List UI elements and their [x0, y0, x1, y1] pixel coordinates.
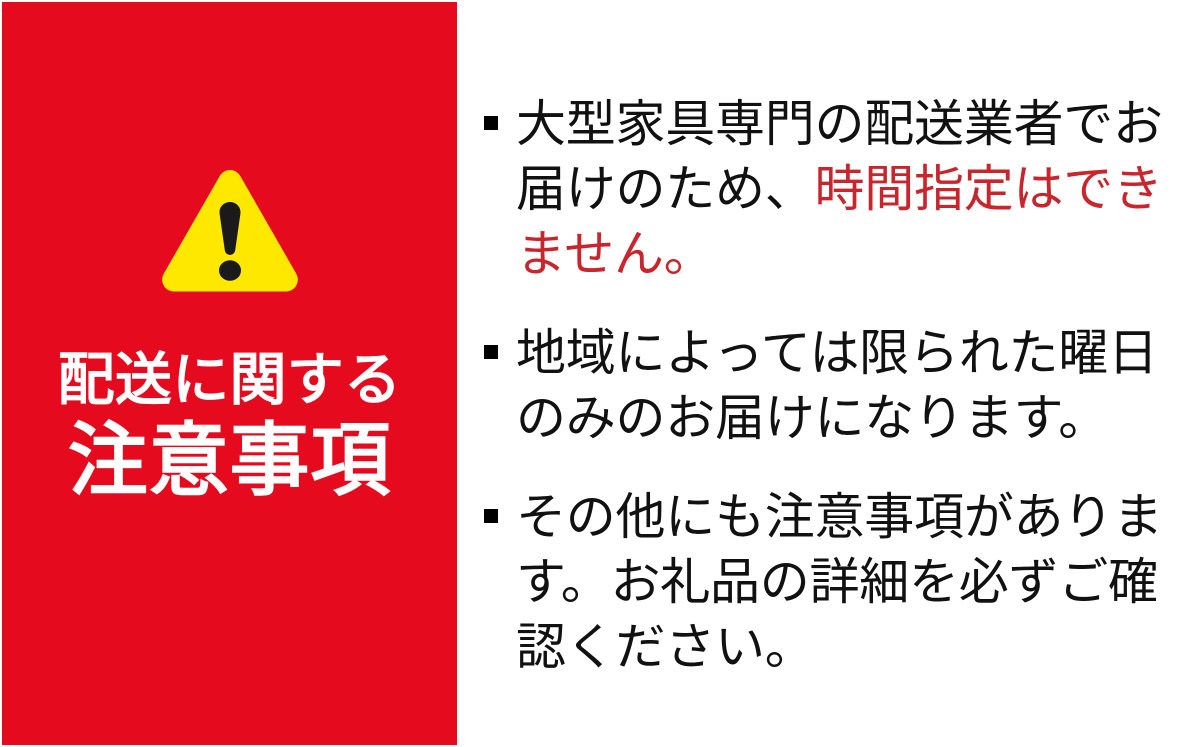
square-bullet-icon — [484, 509, 498, 523]
panel-title-line-1: 配送に関する — [2, 352, 457, 409]
square-bullet-icon — [484, 116, 498, 130]
left-red-panel: 配送に関する 注意事項 — [2, 2, 457, 745]
warning-triangle-exclamation-icon — [160, 166, 300, 296]
list-item: その他にも注意事項があります。お礼品の詳細を必ずご確認ください。 — [484, 485, 1175, 680]
delivery-notice-banner: 配送に関する 注意事項 大型家具専門の配送業者でお届けのため、時間指定はできませ… — [0, 0, 1201, 747]
panel-title: 配送に関する 注意事項 — [2, 352, 457, 501]
panel-title-line-2: 注意事項 — [2, 421, 457, 501]
notice-text: その他にも注意事項があります。お礼品の詳細を必ずご確認ください。 — [516, 489, 1163, 675]
notice-list: 大型家具専門の配送業者でお届けのため、時間指定はできません。 地域によっては限ら… — [484, 92, 1175, 680]
notice-text: 地域によっては限られた曜日のみのお届けになります。 — [516, 325, 1158, 446]
square-bullet-icon — [484, 345, 498, 359]
list-item: 地域によっては限られた曜日のみのお届けになります。 — [484, 321, 1175, 451]
list-item: 大型家具専門の配送業者でお届けのため、時間指定はできません。 — [484, 92, 1175, 287]
right-notice-panel: 大型家具専門の配送業者でお届けのため、時間指定はできません。 地域によっては限ら… — [457, 0, 1201, 747]
